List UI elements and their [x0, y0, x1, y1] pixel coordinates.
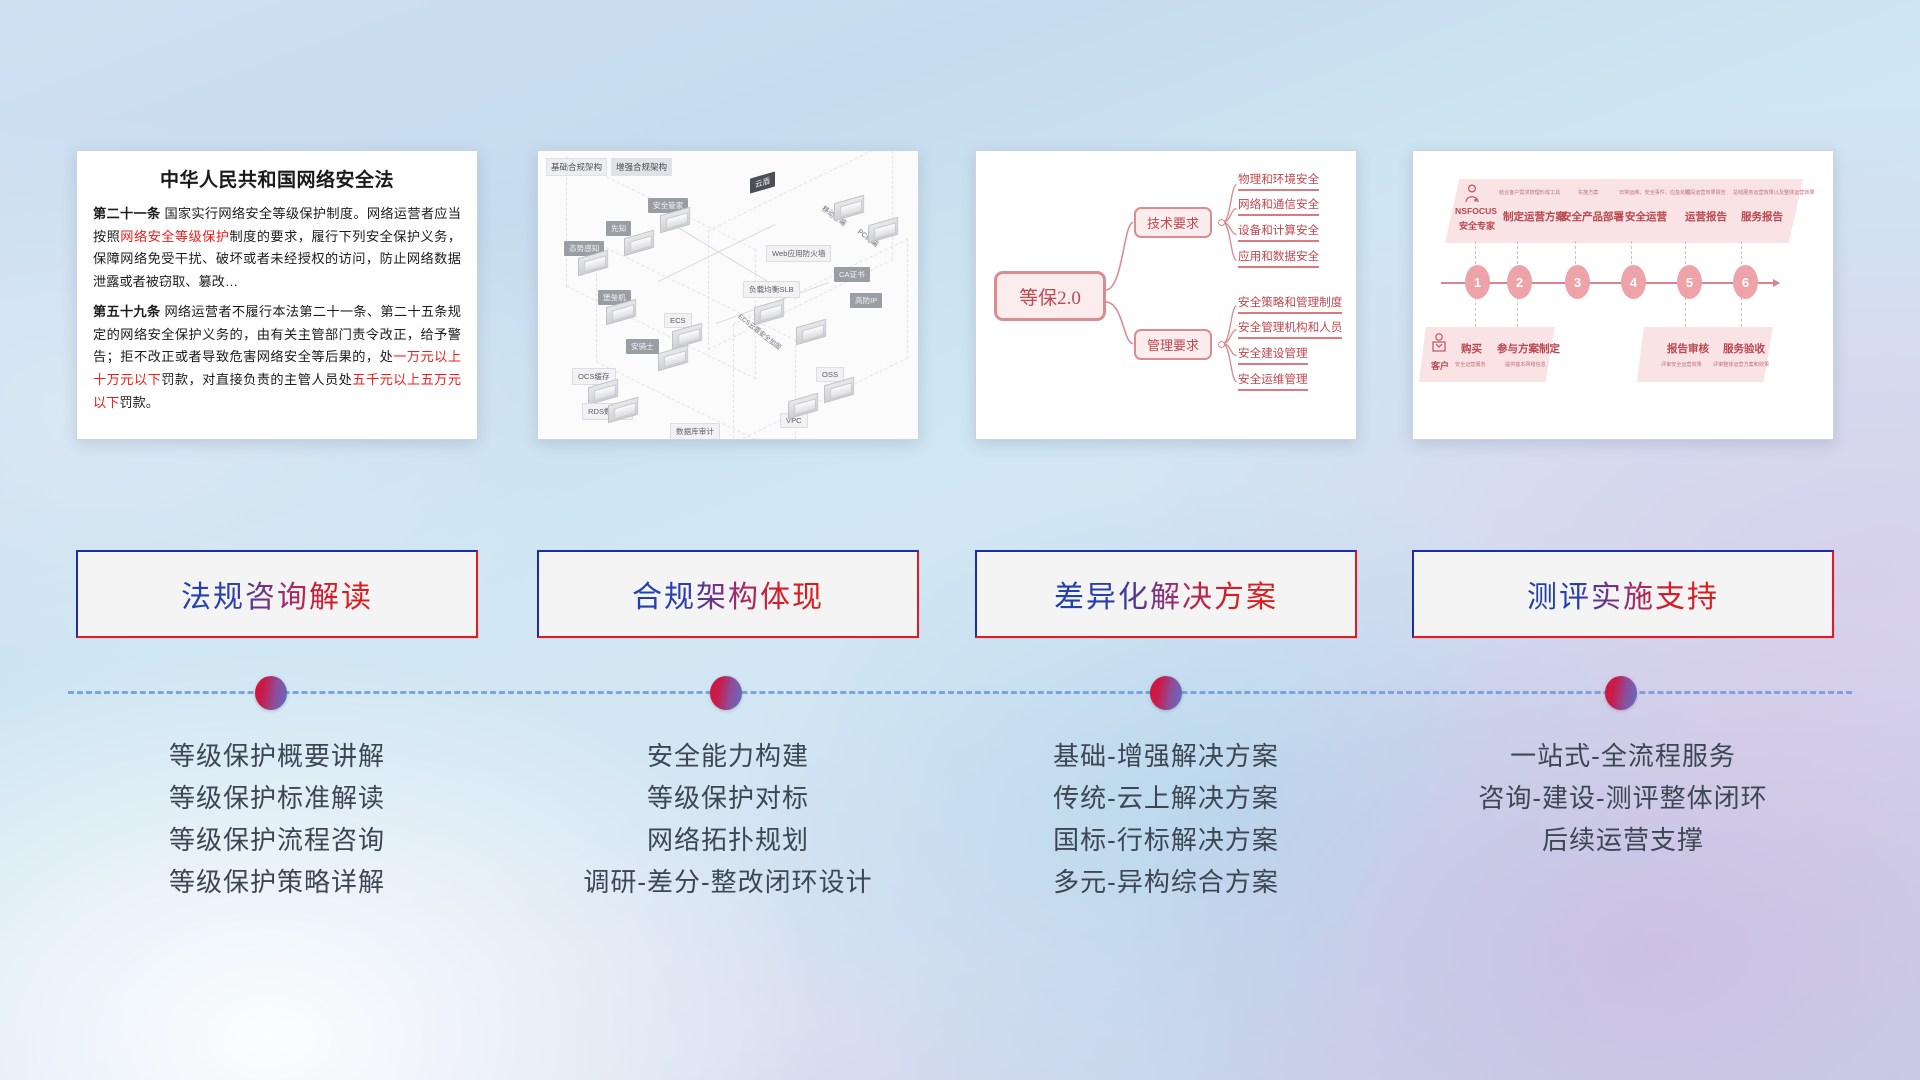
flow-bottom-sub-1: 安全运营服务 — [1455, 361, 1486, 368]
list-item: 调研-差分-整改闭环设计 — [537, 861, 919, 903]
category-item-lists: 等级保护概要讲解 等级保护标准解读 等级保护流程咨询 等级保护策略详解 安全能力… — [0, 735, 1920, 975]
flow-top-sub-4: 阶段运营效果报告 — [1685, 189, 1726, 196]
law-article-label-59: 第五十九条 — [93, 304, 160, 319]
flow-top-main-2: 安全产品部署 — [1561, 209, 1624, 224]
flow-connector — [1741, 297, 1742, 327]
mindmap-root-node: 等保2.0 — [994, 271, 1106, 321]
thumbnail-compliance-architecture[interactable]: 基础合规架构 增强合规架构 云盾 安全管家 先知 态势感知 堡垒机 ECS 安骑… — [537, 150, 919, 440]
list-item: 传统-云上解决方案 — [975, 777, 1357, 819]
law-paragraph-21: 第二十一条 国家实行网络安全等级保护制度。网络运营者应当按照网络安全等级保护制度… — [93, 203, 461, 294]
flow-top-main-4: 运营报告 — [1685, 209, 1727, 224]
list-item: 安全能力构建 — [537, 735, 919, 777]
category-button-row: 法规咨询解读 合规架构体现 差异化解决方案 测评实施支持 — [0, 550, 1920, 650]
flow-step-number-3: 3 — [1565, 265, 1590, 299]
category-button-compliance-architecture[interactable]: 合规架构体现 — [537, 550, 919, 638]
timeline-dot-2[interactable] — [710, 676, 742, 710]
law-text: 罚款。 — [119, 395, 159, 410]
law-highlight: 网络安全等级保护 — [120, 229, 229, 244]
list-item: 等级保护对标 — [537, 777, 919, 819]
category-button-differentiated-solution[interactable]: 差异化解决方案 — [975, 550, 1357, 638]
timeline-dashed-line — [68, 691, 1852, 694]
flow-step-number-2: 2 — [1507, 265, 1532, 299]
timeline-dot-4[interactable] — [1605, 676, 1637, 710]
law-paragraph-59: 第五十九条 网络运营者不履行本法第二十一条、第二十五条规定的网络安全保护义务的，… — [93, 301, 461, 415]
flow-top-sub-2: 实施方案 — [1578, 189, 1598, 196]
flow-connector — [1475, 297, 1476, 327]
arch-node-db-audit: 数据库审计 — [670, 423, 720, 440]
flow-top-sub-3: 日常运维、安全事件、应急处理 — [1619, 189, 1690, 196]
mindmap-leaf: 设备和计算安全 — [1238, 224, 1319, 242]
arch-node-cloudshield: 云盾 — [750, 171, 775, 193]
expert-person-icon — [1463, 184, 1481, 206]
flow-bottom-sub-3: 评审安全运营效果 — [1661, 361, 1702, 368]
list-item: 后续运营支撑 — [1412, 819, 1834, 861]
thumbnail-service-flow[interactable]: NSFOCUS 安全专家 结合客户需求梳理形成工具 制定运营方案 实施方案 安全… — [1412, 150, 1834, 440]
category-button-label: 差异化解决方案 — [1054, 572, 1278, 616]
mindmap-leaf: 安全策略和管理制度 — [1238, 296, 1342, 314]
list-item: 基础-增强解决方案 — [975, 735, 1357, 777]
flow-expert-label-line2: 安全专家 — [1459, 219, 1495, 232]
flow-bottom-main-3: 报告审核 — [1667, 341, 1709, 356]
arch-node-anti-ddos-ip: 高防IP — [850, 293, 882, 308]
category-button-label: 法规咨询解读 — [181, 572, 373, 616]
mindmap-collapse-icon[interactable] — [1218, 341, 1225, 348]
timeline — [0, 672, 1920, 712]
item-list-differentiated-solution: 基础-增强解决方案 传统-云上解决方案 国标-行标解决方案 多元-异构综合方案 — [975, 735, 1357, 903]
mindmap-branch-technical: 技术要求 — [1134, 207, 1212, 238]
arch-node-ca-certificate: CA证书 — [834, 267, 870, 282]
flow-top-main-5: 服务报告 — [1741, 209, 1783, 224]
flow-connector — [1685, 297, 1686, 327]
thumbnail-cybersecurity-law[interactable]: 中华人民共和国网络安全法 第二十一条 国家实行网络安全等级保护制度。网络运营者应… — [76, 150, 478, 440]
flow-expert-label-line1: NSFOCUS — [1455, 206, 1497, 216]
law-text: 罚款，对直接负责的主管人员处 — [161, 372, 352, 387]
timeline-dot-3[interactable] — [1150, 676, 1182, 710]
flow-top-sub-1: 结合客户需求梳理形成工具 — [1499, 189, 1560, 196]
mindmap-branch-management: 管理要求 — [1134, 329, 1212, 360]
list-item: 等级保护流程咨询 — [76, 819, 478, 861]
mindmap-leaf: 安全管理机构和人员 — [1238, 321, 1342, 339]
list-item: 多元-异构综合方案 — [975, 861, 1357, 903]
mindmap-leaf: 物理和环境安全 — [1238, 173, 1319, 191]
mindmap-leaf: 网络和通信安全 — [1238, 198, 1319, 216]
list-item: 等级保护概要讲解 — [76, 735, 478, 777]
item-list-regulation-consulting: 等级保护概要讲解 等级保护标准解读 等级保护流程咨询 等级保护策略详解 — [76, 735, 478, 903]
mindmap-collapse-icon[interactable] — [1218, 219, 1225, 226]
architecture-diagram: 基础合规架构 增强合规架构 云盾 安全管家 先知 态势感知 堡垒机 ECS 安骑… — [538, 151, 918, 439]
mindmap-leaf: 安全运维管理 — [1238, 373, 1308, 391]
flow-customer-label: 客户 — [1431, 359, 1449, 372]
law-card: 中华人民共和国网络安全法 第二十一条 国家实行网络安全等级保护制度。网络运营者应… — [77, 151, 477, 431]
arch-node-slb: 负载均衡SLB — [743, 281, 800, 298]
arch-node-anqishi: 安骑士 — [626, 339, 659, 354]
flow-bottom-sub-4: 评审整体运营方案和效果 — [1713, 361, 1769, 368]
service-flow-diagram: NSFOCUS 安全专家 结合客户需求梳理形成工具 制定运营方案 实施方案 安全… — [1413, 151, 1833, 439]
category-button-label: 合规架构体现 — [632, 572, 824, 616]
list-item: 等级保护标准解读 — [76, 777, 478, 819]
arch-node-waf: Web应用防火墙 — [766, 245, 831, 262]
thumbnail-row: 中华人民共和国网络安全法 第二十一条 国家实行网络安全等级保护制度。网络运营者应… — [0, 150, 1920, 440]
tab-enhanced-architecture[interactable]: 增强合规架构 — [611, 158, 672, 176]
list-item: 一站式-全流程服务 — [1412, 735, 1834, 777]
mindmap: 等保2.0 技术要求 管理要求 物理和环境安全 网络和通信安全 设备和计算安全 … — [976, 151, 1356, 439]
mindmap-leaf: 应用和数据安全 — [1238, 250, 1319, 268]
flow-bottom-main-4: 服务验收 — [1723, 341, 1765, 356]
category-button-label: 测评实施支持 — [1527, 572, 1719, 616]
flow-top-main-3: 安全运营 — [1625, 209, 1667, 224]
architecture-tabs: 基础合规架构 增强合规架构 — [546, 158, 672, 176]
flow-step-number-4: 4 — [1621, 265, 1646, 299]
law-article-label-21: 第二十一条 — [93, 206, 160, 221]
customer-person-icon — [1431, 333, 1447, 357]
flow-connector — [1517, 297, 1518, 327]
mindmap-leaf: 安全建设管理 — [1238, 347, 1308, 365]
category-button-assessment-support[interactable]: 测评实施支持 — [1412, 550, 1834, 638]
arch-node-xianzhi: 先知 — [606, 221, 631, 236]
list-item: 国标-行标解决方案 — [975, 819, 1357, 861]
timeline-dot-1[interactable] — [255, 676, 287, 710]
item-list-compliance-architecture: 安全能力构建 等级保护对标 网络拓扑规划 调研-差分-整改闭环设计 — [537, 735, 919, 903]
flow-bottom-main-1: 购买 — [1461, 341, 1482, 356]
flow-top-sub-5: 总结服务运营效果以及整体运营效果 — [1733, 189, 1815, 196]
list-item: 咨询-建设-测评整体闭环 — [1412, 777, 1834, 819]
flow-step-number-6: 6 — [1733, 265, 1758, 299]
flow-timeline-axis — [1441, 282, 1779, 284]
flow-top-main-1: 制定运营方案 — [1503, 209, 1566, 224]
item-list-assessment-support: 一站式-全流程服务 咨询-建设-测评整体闭环 后续运营支撑 — [1412, 735, 1834, 861]
flow-bottom-main-2: 参与方案制定 — [1497, 341, 1560, 356]
list-item: 等级保护策略详解 — [76, 861, 478, 903]
flow-bottom-sub-2: 提供基本网络信息 — [1505, 361, 1546, 368]
list-item: 网络拓扑规划 — [537, 819, 919, 861]
flow-step-number-1: 1 — [1465, 265, 1490, 299]
category-button-regulation-consulting[interactable]: 法规咨询解读 — [76, 550, 478, 638]
flow-step-number-5: 5 — [1677, 265, 1702, 299]
thumbnail-dengbao-mindmap[interactable]: 等保2.0 技术要求 管理要求 物理和环境安全 网络和通信安全 设备和计算安全 … — [975, 150, 1357, 440]
law-title: 中华人民共和国网络安全法 — [93, 165, 461, 192]
